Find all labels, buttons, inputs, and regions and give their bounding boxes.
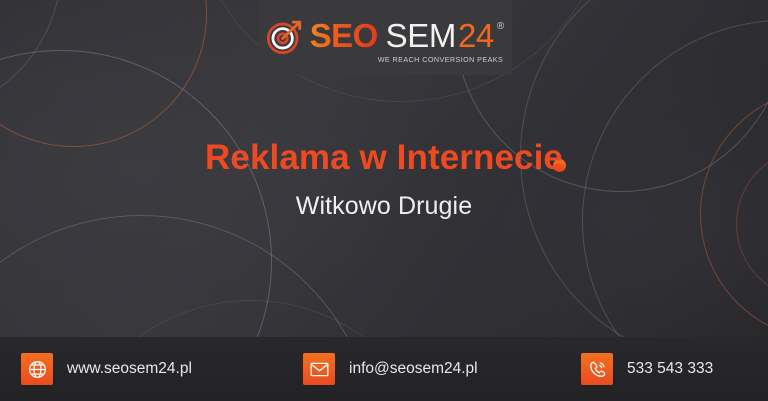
phone-label: 533 543 333 xyxy=(627,360,713,378)
decorative-circle-gray xyxy=(0,0,62,117)
promo-banner: SEO SEM 24 ® WE REACH CONVERSION PEAKS R… xyxy=(0,0,768,401)
email-label: info@seosem24.pl xyxy=(349,360,478,378)
logo-text-sem: SEM xyxy=(386,19,456,52)
website-label: www.seosem24.pl xyxy=(67,360,192,378)
logo-tagline: WE REACH CONVERSION PEAKS xyxy=(378,56,504,63)
contact-footer: www.seosem24.pl info@seosem24.pl 533 543… xyxy=(0,337,768,401)
envelope-icon xyxy=(303,353,335,385)
hero-section: Reklama w Internecie Witkowo Drugie xyxy=(0,138,768,221)
globe-icon xyxy=(21,353,53,385)
contact-website[interactable]: www.seosem24.pl xyxy=(21,353,192,385)
contact-email[interactable]: info@seosem24.pl xyxy=(303,353,478,385)
brand-logo: SEO SEM 24 ® WE REACH CONVERSION PEAKS xyxy=(258,0,512,75)
decorative-circle-orange xyxy=(0,0,207,147)
logo-text-seo: SEO xyxy=(310,19,378,52)
contact-phone[interactable]: 533 543 333 xyxy=(581,353,713,385)
phone-icon xyxy=(581,353,613,385)
page-title: Reklama w Internecie xyxy=(0,138,768,178)
logo-text-24: 24 xyxy=(458,19,494,52)
page-subtitle: Witkowo Drugie xyxy=(0,192,768,221)
registered-trademark-icon: ® xyxy=(497,22,504,32)
target-arrow-icon xyxy=(266,18,303,55)
